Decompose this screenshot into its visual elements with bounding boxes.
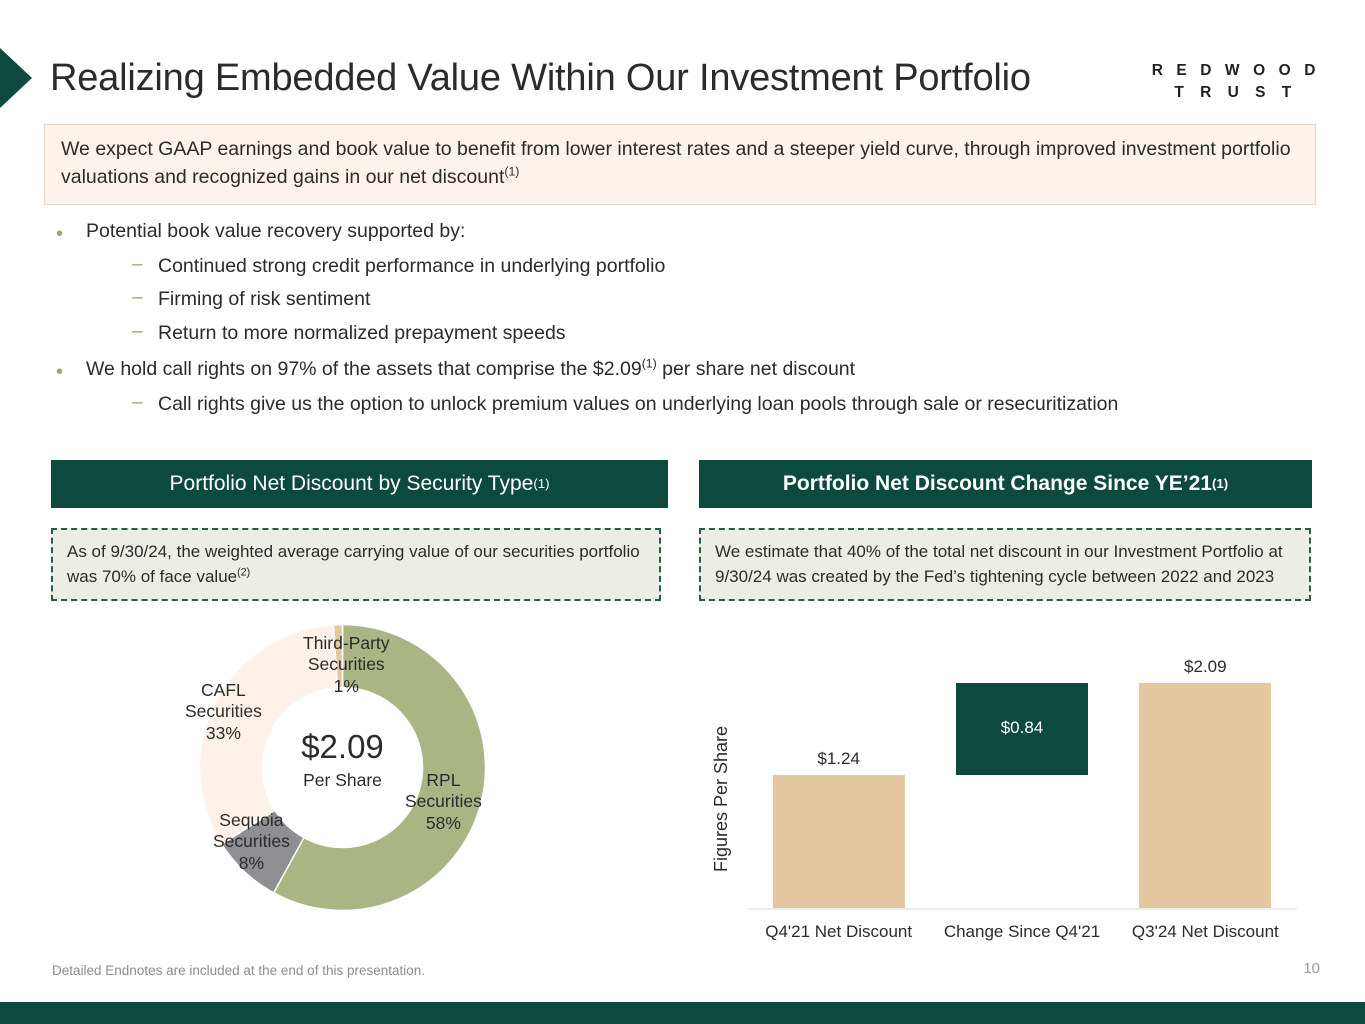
donut-label-line1: Sequoia [213, 810, 290, 831]
x-label-change-since-q4-21: Change Since Q4'21 [927, 922, 1117, 942]
footer-bar [0, 1002, 1365, 1024]
logo-line-1: R E D W O O D [1152, 60, 1320, 82]
donut-label-value: 1% [303, 676, 390, 697]
bullet-text-after: per share net discount [657, 358, 855, 380]
footer-note: Detailed Endnotes are included at the en… [52, 963, 425, 978]
x-label-q3-24-net-discount: Q3'24 Net Discount [1110, 922, 1300, 942]
x-axis-line [747, 908, 1297, 910]
donut-label-line1: RPL [405, 770, 482, 791]
redwood-trust-logo: R E D W O O D T R U S T [1152, 60, 1320, 105]
donut-label-sequoia-securities: Sequoia Securities 8% [213, 810, 290, 874]
slide: Realizing Embedded Value Within Our Inve… [0, 0, 1365, 1024]
logo-line-2: T R U S T [1152, 82, 1320, 104]
bullet-text: Call rights give us the option to unlock… [158, 391, 1118, 418]
bullet-dash-icon: – [132, 253, 158, 274]
donut-label-third-party-securities: Third-Party Securities 1% [303, 633, 390, 697]
bullet-dash-icon: – [132, 286, 158, 307]
donut-label-line2: Securities [303, 654, 390, 675]
donut-label-line2: Securities [213, 831, 290, 852]
bullet-text-before: We hold call rights on 97% of the assets… [86, 358, 642, 380]
page-number: 10 [1303, 960, 1320, 977]
donut-chart: $2.09 Per Share Third-Party Securities 1… [195, 620, 490, 915]
callout-right-line-3: between 2022 and 2023 [1092, 567, 1274, 586]
bullet-item-level2: – Call rights give us the option to unlo… [56, 391, 1326, 418]
bar-q3-24-net-discount [1139, 683, 1271, 908]
donut-label-cafl-securities: CAFL Securities 33% [185, 680, 262, 744]
bar-q4-21-net-discount [773, 775, 905, 908]
donut-label-value: 8% [213, 853, 290, 874]
callout-discount-change: We estimate that 40% of the total net di… [699, 528, 1311, 601]
page-title: Realizing Embedded Value Within Our Inve… [50, 57, 1031, 100]
bullet-text: Firming of risk sentiment [158, 286, 370, 313]
panel-header-left-text: Portfolio Net Discount by Security Type [170, 472, 534, 496]
bar-value-label-q3-24-net-discount: $2.09 [1139, 657, 1271, 677]
bullet-footnote-marker: (1) [642, 357, 657, 371]
donut-label-rpl-securities: RPL Securities 58% [405, 770, 482, 834]
panel-header-security-type: Portfolio Net Discount by Security Type(… [51, 460, 668, 508]
donut-label-value: 33% [185, 723, 262, 744]
callout-left-footnote: (2) [237, 566, 250, 578]
donut-label-value: 58% [405, 813, 482, 834]
panel-header-discount-change: Portfolio Net Discount Change Since YE’2… [699, 460, 1312, 508]
bullet-dash-icon: – [132, 391, 158, 412]
callout-left-line-1: As of 9/30/24, the weighted average carr… [67, 542, 574, 561]
bullet-text: Return to more normalized prepayment spe… [158, 320, 566, 347]
x-label-q4-21-net-discount: Q4'21 Net Discount [744, 922, 934, 942]
callout-right-line-1: We estimate that 40% of the total net di… [715, 542, 1197, 561]
bullet-dot-icon: • [56, 218, 86, 244]
highlight-line-1: We expect GAAP earnings and book value t… [61, 138, 1116, 160]
bullet-item-level2: – Continued strong credit performance in… [56, 253, 1326, 280]
triangle-accent-icon [0, 48, 32, 108]
waterfall-bar-chart: Figures Per Share $1.24$0.84$2.09 Q4'21 … [705, 650, 1305, 950]
bullet-dash-icon: – [132, 320, 158, 341]
bar-value-label-q4-21-net-discount: $1.24 [773, 749, 905, 769]
bullet-text: Continued strong credit performance in u… [158, 253, 665, 280]
highlight-banner: We expect GAAP earnings and book value t… [44, 124, 1316, 205]
panel-header-right-text: Portfolio Net Discount Change Since YE’2… [783, 472, 1212, 496]
donut-label-line1: CAFL [185, 680, 262, 701]
bar-value-label-change-since-q4-21: $0.84 [956, 718, 1088, 738]
bullet-text: We hold call rights on 97% of the assets… [86, 356, 855, 383]
bullet-text: Potential book value recovery supported … [86, 218, 465, 245]
y-axis-title: Figures Per Share [711, 672, 732, 872]
donut-label-line2: Securities [185, 701, 262, 722]
bullet-item-level1: • We hold call rights on 97% of the asse… [56, 356, 1326, 383]
bullet-item-level1: • Potential book value recovery supporte… [56, 218, 1326, 245]
donut-label-line1: Third-Party [303, 633, 390, 654]
bullet-list: • Potential book value recovery supporte… [56, 218, 1326, 424]
bar-plot-area: $1.24$0.84$2.09 [747, 650, 1297, 910]
callout-security-type: As of 9/30/24, the weighted average carr… [51, 528, 661, 601]
donut-label-line2: Securities [405, 791, 482, 812]
bullet-dot-icon: • [56, 356, 86, 382]
highlight-footnote-marker: (1) [504, 164, 519, 178]
bullet-item-level2: – Firming of risk sentiment [56, 286, 1326, 313]
bullet-item-level2: – Return to more normalized prepayment s… [56, 320, 1326, 347]
